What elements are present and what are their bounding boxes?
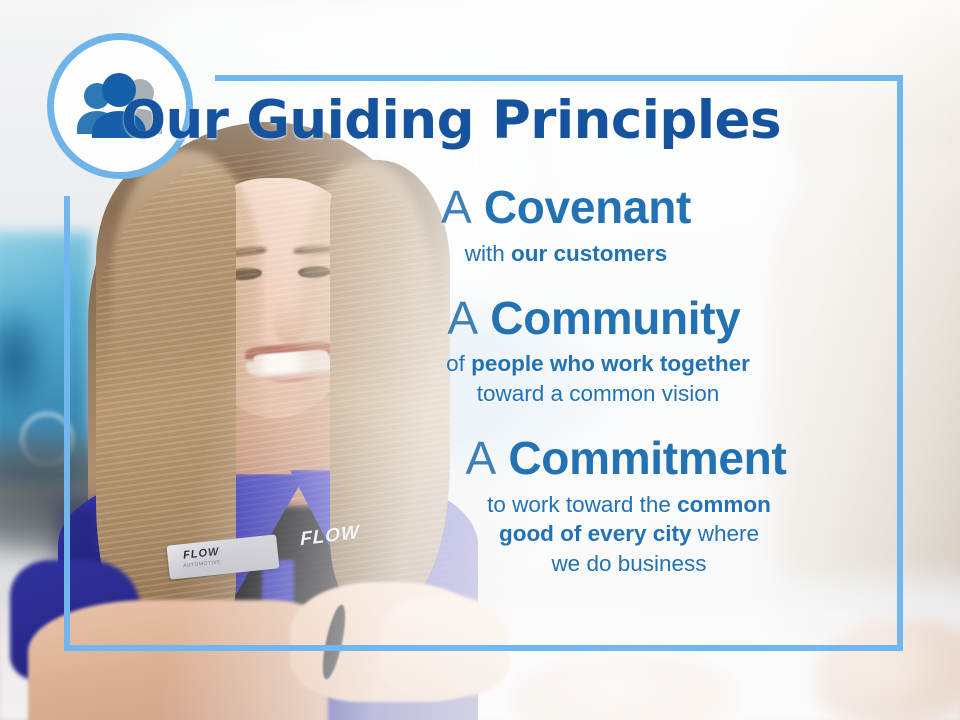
principle-commitment-title: A Commitment (300, 435, 910, 483)
principle-covenant-subtitle: with our customers (300, 239, 910, 269)
principle-covenant: A Covenant with our customers (300, 184, 910, 269)
frame-border-top (215, 75, 903, 81)
principle-covenant-lead: A (441, 181, 471, 233)
principle-covenant-keyword: Covenant (484, 181, 691, 233)
principle-commitment-subtitle: to work toward the common good of every … (300, 490, 910, 579)
page-title: Our Guiding Principles (0, 94, 960, 147)
principle-commitment-sub-bold-1: common (677, 492, 771, 517)
principle-covenant-sub-bold: our customers (511, 241, 667, 266)
frame-border-left (64, 196, 70, 651)
principle-commitment-keyword: Commitment (508, 432, 786, 484)
principle-community-subtitle: of people who work together toward a com… (300, 349, 910, 408)
frame-border-bottom (64, 645, 903, 651)
principle-commitment-sub-plain-2: where (692, 521, 760, 546)
principle-commitment: A Commitment to work toward the common g… (300, 435, 910, 579)
principle-community-sub-bold-1: people who work together (471, 351, 750, 376)
principles-list: A Covenant with our customers A Communit… (300, 184, 910, 605)
principle-covenant-title: A Covenant (300, 184, 910, 232)
principle-covenant-sub-plain: with (465, 241, 511, 266)
principle-community-lead: A (447, 292, 477, 344)
guiding-principles-poster: FLOW AUTOMOTIVE FLOW Our Guiding Princip… (0, 0, 960, 720)
principle-community: A Community of people who work together … (300, 295, 910, 409)
principle-commitment-lead: A (466, 432, 496, 484)
principle-community-keyword: Community (490, 292, 740, 344)
principle-commitment-sub-plain-3: we do business (551, 551, 706, 576)
principle-commitment-sub-bold-2: good of every city (499, 521, 692, 546)
principle-community-sub-plain-2: toward a common vision (477, 381, 720, 406)
principle-community-sub-plain-1: of (446, 351, 471, 376)
principle-commitment-sub-plain-1: to work toward the (487, 492, 677, 517)
principle-community-title: A Community (300, 295, 910, 343)
